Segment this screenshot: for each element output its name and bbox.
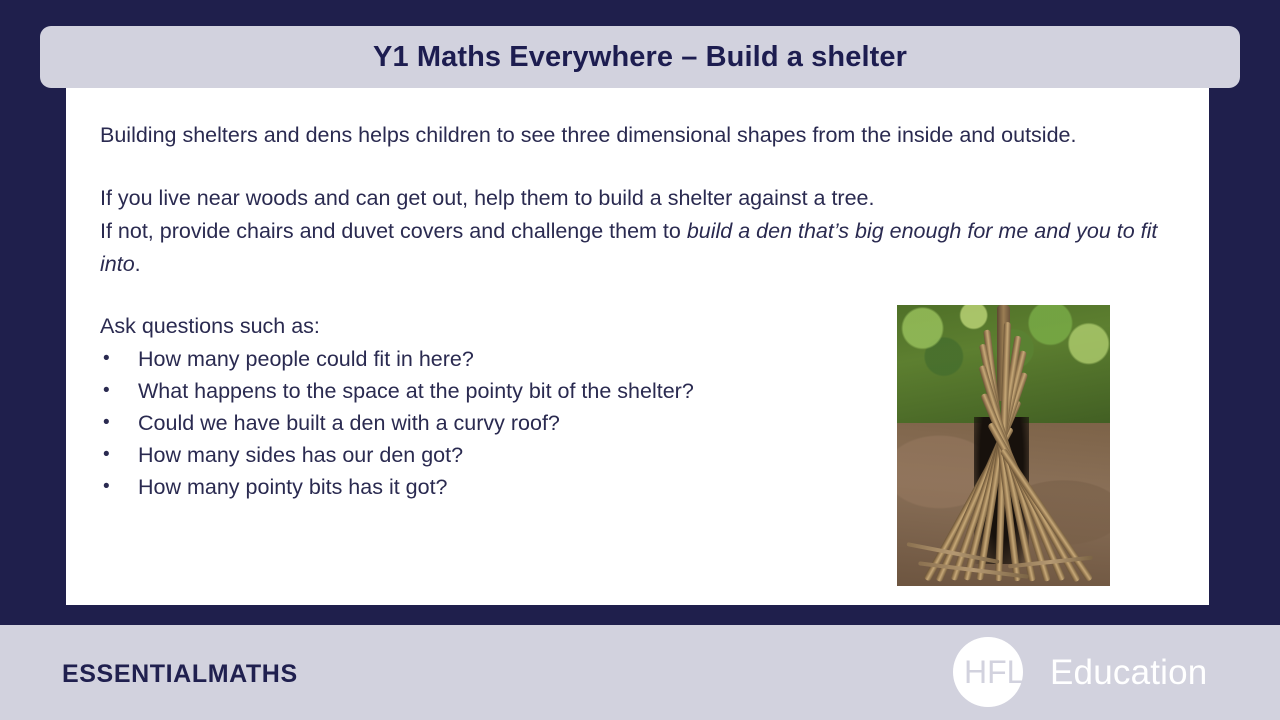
list-item-label: How many pointy bits has it got? [138,471,448,503]
bullet-icon: • [100,375,138,407]
list-item-label: How many sides has our den got? [138,439,463,471]
page-title: Y1 Maths Everywhere – Build a shelter [373,41,907,74]
list-item-label: Could we have built a den with a curvy r… [138,407,560,439]
logo-wordmark: Education [1050,655,1207,690]
content-panel: Building shelters and dens helps childre… [66,88,1209,605]
bullet-icon: • [100,343,138,375]
woods-line: If you live near woods and can get out, … [100,182,1166,215]
paragraph-spacer-1 [100,152,1175,182]
bullet-icon: • [100,407,138,439]
indoors-line: If not, provide chairs and duvet covers … [100,215,1166,281]
slide: Y1 Maths Everywhere – Build a shelter Bu… [0,0,1280,720]
footer-brand: ESSENTIALMATHS [62,660,298,689]
bullet-icon: • [100,471,138,503]
hfl-monogram: HFL [964,656,1024,688]
list-item-label: What happens to the space at the pointy … [138,375,694,407]
intro-paragraph: Building shelters and dens helps childre… [100,119,1166,152]
indoors-line-suffix: . [135,252,141,276]
hfl-education-logo: HFL Education [953,637,1211,707]
indoors-line-prefix: If not, provide chairs and duvet covers … [100,219,687,243]
shelter-photo [897,305,1110,586]
bullet-icon: • [100,439,138,471]
list-item-label: How many people could fit in here? [138,343,474,375]
title-banner: Y1 Maths Everywhere – Build a shelter [40,26,1240,88]
